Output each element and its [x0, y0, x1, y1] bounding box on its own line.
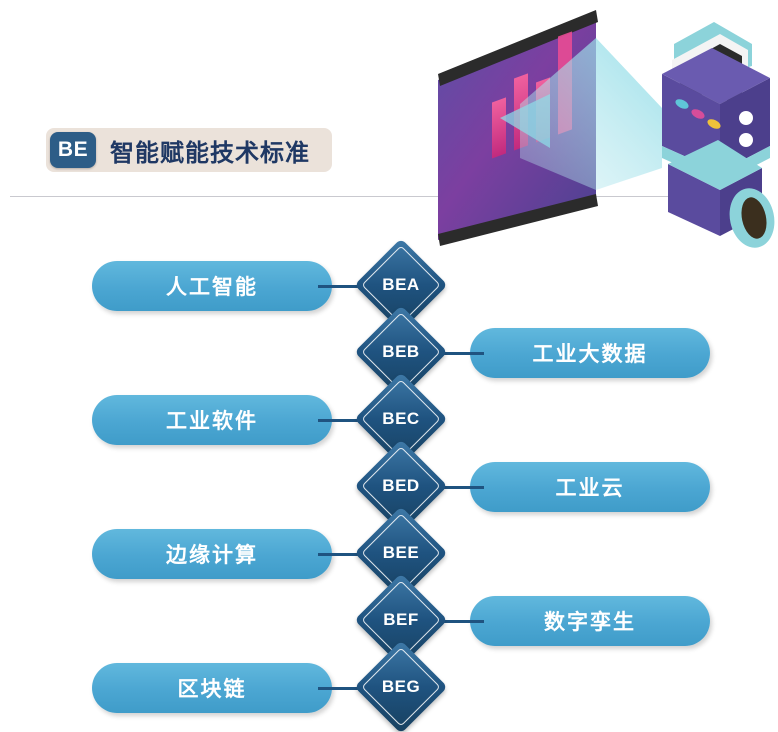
title-band: BE 智能赋能技术标准: [46, 128, 332, 172]
service-robot-icon: [662, 22, 778, 252]
node-diamond-beg[interactable]: [354, 640, 447, 732]
standards-flow: 人工智能 BEA 工业大数据 BEB 工业软件 BEC 工业云 BED 边缘计算: [0, 252, 778, 732]
flow-row: 工业云 BED: [0, 453, 778, 520]
projector-robot-illustration: [400, 8, 778, 258]
page-title: 智能赋能技术标准: [110, 133, 310, 168]
flow-row: 人工智能 BEA: [0, 252, 778, 319]
be-badge: BE: [50, 132, 96, 168]
flow-row: 工业大数据 BEB: [0, 319, 778, 386]
flow-row: 区块链 BEG: [0, 654, 778, 721]
illustration-svg: [400, 8, 778, 258]
topic-pill-bec[interactable]: 工业软件: [92, 395, 332, 445]
topic-pill-beb[interactable]: 工业大数据: [470, 328, 710, 378]
infographic-page: BE 智能赋能技术标准: [0, 0, 778, 732]
topic-pill-bee[interactable]: 边缘计算: [92, 529, 332, 579]
topic-pill-beg[interactable]: 区块链: [92, 663, 332, 713]
topic-pill-bed[interactable]: 工业云: [470, 462, 710, 512]
flow-row: 边缘计算 BEE: [0, 520, 778, 587]
topic-pill-bea[interactable]: 人工智能: [92, 261, 332, 311]
topic-pill-bef[interactable]: 数字孪生: [470, 596, 710, 646]
flow-row: 数字孪生 BEF: [0, 587, 778, 654]
flow-row: 工业软件 BEC: [0, 386, 778, 453]
